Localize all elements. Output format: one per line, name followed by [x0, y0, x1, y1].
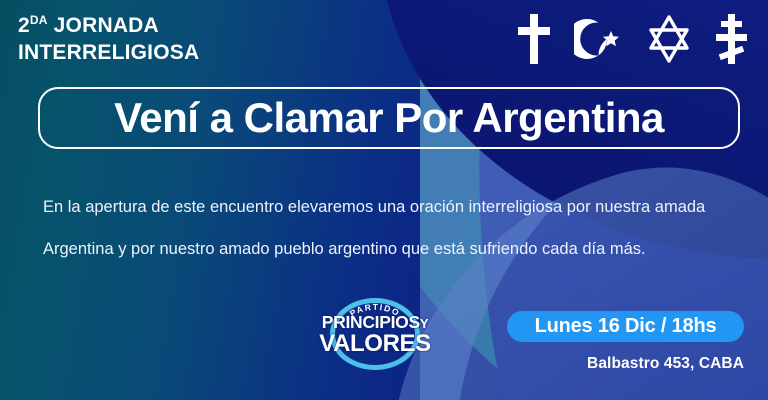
party-logo: PARTIDO PRINCIPIOSY VALORES — [305, 296, 445, 372]
flyer-canvas: 2da JORNADA INTERRELIGIOSA — [0, 0, 768, 400]
logo-wordmark: PRINCIPIOSY VALORES — [305, 314, 445, 356]
event-date-label: Lunes 16 Dic / 18hs — [535, 315, 717, 338]
latin-cross-icon — [514, 12, 554, 66]
religious-symbols-row — [514, 12, 750, 66]
kicker-line1: JORNADA — [54, 14, 159, 37]
event-date-badge: Lunes 16 Dic / 18hs — [507, 311, 744, 342]
body-paragraph: En la apertura de este encuentro elevare… — [43, 186, 727, 270]
kicker-line2: INTERRELIGIOSA — [18, 40, 199, 67]
kicker-ordinal: da — [30, 13, 48, 27]
main-title-box: Vení a Clamar Por Argentina — [38, 87, 740, 149]
logo-conjunction: Y — [420, 316, 428, 331]
orthodox-cross-icon — [714, 12, 750, 66]
logo-line2: VALORES — [305, 332, 445, 356]
kicker-number: 2 — [18, 14, 30, 37]
event-kicker: 2da JORNADA INTERRELIGIOSA — [18, 13, 199, 67]
star-and-crescent-icon — [574, 12, 624, 66]
star-of-david-icon — [644, 12, 694, 66]
event-address: Balbastro 453, CABA — [587, 355, 744, 373]
logo-line1-text: PRINCIPIOS — [322, 312, 420, 332]
page-title: Vení a Clamar Por Argentina — [114, 97, 664, 139]
